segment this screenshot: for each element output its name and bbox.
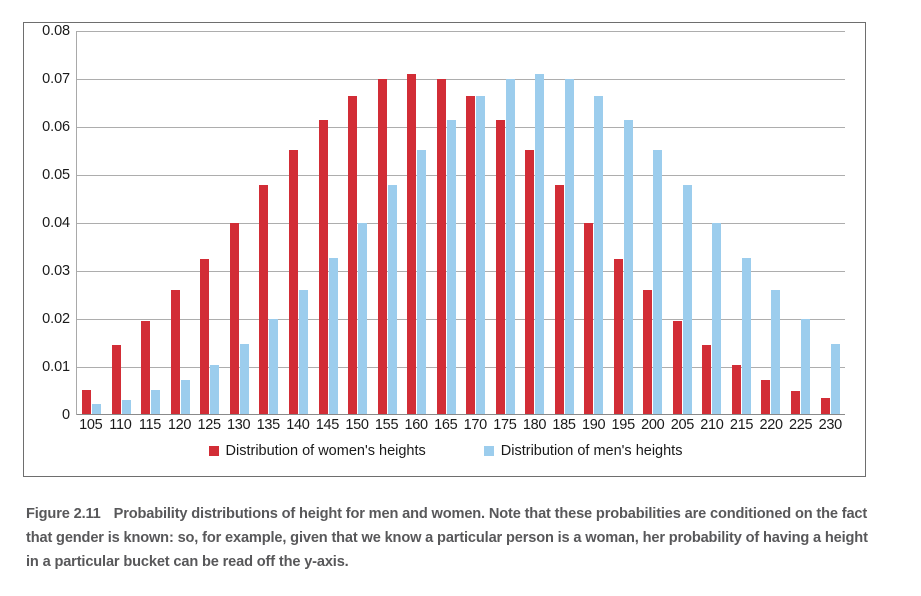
x-tick-label: 135	[253, 417, 283, 441]
x-tick-label: 210	[697, 417, 727, 441]
bar-group	[520, 31, 550, 415]
bar-men	[683, 185, 692, 415]
bar-men	[801, 319, 810, 415]
bar-men	[565, 79, 574, 415]
bar-men	[476, 96, 485, 415]
legend-label: Distribution of women's heights	[226, 443, 426, 459]
x-tick-label: 200	[638, 417, 668, 441]
plot-area	[76, 31, 845, 415]
x-tick-label: 110	[106, 417, 136, 441]
y-tick-label: 0.01	[42, 359, 70, 375]
bar-group	[461, 31, 491, 415]
bar-men	[742, 258, 751, 415]
y-tick-label: 0.04	[42, 215, 70, 231]
x-tick-label: 150	[342, 417, 372, 441]
bar-group	[195, 31, 225, 415]
bar-group	[727, 31, 757, 415]
y-tick-label: 0	[62, 407, 70, 423]
bar-men	[388, 185, 397, 415]
bar-men	[240, 344, 249, 415]
bar-women	[702, 345, 711, 415]
bar-group	[668, 31, 698, 415]
bar-women	[437, 79, 446, 415]
bar-group	[107, 31, 137, 415]
bar-women	[614, 259, 623, 415]
x-tick-label: 130	[224, 417, 254, 441]
bar-men	[535, 74, 544, 415]
bar-group	[225, 31, 255, 415]
bar-men	[269, 319, 278, 415]
y-tick-label: 0.05	[42, 167, 70, 183]
bar-group	[815, 31, 845, 415]
bar-women	[319, 120, 328, 415]
x-tick-label: 105	[76, 417, 106, 441]
bar-men	[712, 223, 721, 415]
y-tick-label: 0.03	[42, 263, 70, 279]
x-tick-label: 155	[372, 417, 402, 441]
bar-group	[313, 31, 343, 415]
bar-women	[112, 345, 121, 415]
bar-men	[151, 390, 160, 415]
bar-group	[343, 31, 373, 415]
y-tick-label: 0.08	[42, 23, 70, 39]
bar-women	[643, 290, 652, 415]
bar-women	[673, 321, 682, 415]
x-tick-label: 220	[756, 417, 786, 441]
x-tick-label: 140	[283, 417, 313, 441]
bar-men	[358, 223, 367, 415]
bar-women	[348, 96, 357, 415]
bar-women	[407, 74, 416, 415]
bar-men	[417, 150, 426, 415]
x-tick-label: 125	[194, 417, 224, 441]
bar-group	[697, 31, 727, 415]
x-tick-label: 185	[549, 417, 579, 441]
bar-group	[77, 31, 107, 415]
bar-women	[259, 185, 268, 415]
bar-women	[555, 185, 564, 415]
bar-women	[496, 120, 505, 415]
x-tick-label: 225	[786, 417, 816, 441]
bar-group	[490, 31, 520, 415]
y-axis: 0.080.070.060.050.040.030.020.010	[24, 23, 76, 423]
figure-root: 0.080.070.060.050.040.030.020.010 105110…	[0, 0, 921, 596]
x-tick-label: 195	[608, 417, 638, 441]
bar-men	[181, 380, 190, 415]
bar-women	[466, 96, 475, 415]
bar-men	[506, 79, 515, 415]
bar-women	[732, 365, 741, 415]
bar-group	[756, 31, 786, 415]
bar-men	[831, 344, 840, 415]
x-tick-label: 190	[579, 417, 609, 441]
bar-men	[653, 150, 662, 415]
bar-group	[372, 31, 402, 415]
bar-men	[299, 290, 308, 415]
x-tick-label: 215	[727, 417, 757, 441]
bar-women	[525, 150, 534, 415]
x-tick-label: 145	[313, 417, 343, 441]
bar-women	[821, 398, 830, 415]
bar-group	[550, 31, 580, 415]
x-tick-label: 180	[520, 417, 550, 441]
bar-group	[579, 31, 609, 415]
bar-women	[200, 259, 209, 415]
plot-wrapper: 0.080.070.060.050.040.030.020.010 105110…	[24, 23, 867, 423]
bar-group	[609, 31, 639, 415]
legend-label: Distribution of men's heights	[501, 443, 683, 459]
bar-group	[402, 31, 432, 415]
bar-women	[82, 390, 91, 415]
bar-women	[584, 223, 593, 415]
bar-group	[136, 31, 166, 415]
bar-men	[447, 120, 456, 415]
bar-group	[786, 31, 816, 415]
chart-legend: Distribution of women's heightsDistribut…	[24, 443, 867, 459]
x-tick-label: 165	[431, 417, 461, 441]
x-tick-label: 120	[165, 417, 195, 441]
x-tick-label: 115	[135, 417, 165, 441]
bar-group	[166, 31, 196, 415]
figure-number: Figure 2.11	[26, 506, 101, 522]
bar-group	[284, 31, 314, 415]
x-tick-label: 230	[815, 417, 845, 441]
y-tick-label: 0.06	[42, 119, 70, 135]
legend-swatch-men	[484, 446, 494, 456]
bar-women	[141, 321, 150, 415]
bar-women	[791, 391, 800, 415]
bar-men	[122, 400, 131, 415]
legend-swatch-women	[209, 446, 219, 456]
bar-group	[431, 31, 461, 415]
chart-frame: 0.080.070.060.050.040.030.020.010 105110…	[23, 22, 866, 477]
x-tick-label: 205	[668, 417, 698, 441]
bar-women	[171, 290, 180, 415]
y-tick-label: 0.07	[42, 71, 70, 87]
bar-group	[638, 31, 668, 415]
x-axis: 1051101151201251301351401451501551601651…	[76, 417, 845, 441]
legend-entry: Distribution of men's heights	[484, 443, 683, 459]
bar-men	[771, 290, 780, 415]
x-tick-label: 160	[401, 417, 431, 441]
legend-entry: Distribution of women's heights	[209, 443, 426, 459]
figure-caption: Figure 2.11Probability distributions of …	[26, 502, 882, 574]
figure-caption-text: Probability distributions of height for …	[26, 506, 868, 570]
bar-men	[624, 120, 633, 415]
bar-women	[230, 223, 239, 415]
bar-group	[254, 31, 284, 415]
bar-men	[210, 365, 219, 415]
bar-men	[329, 258, 338, 415]
bars-layer	[77, 31, 845, 415]
bar-women	[289, 150, 298, 415]
bar-women	[378, 79, 387, 415]
x-axis-line	[77, 414, 845, 415]
bar-women	[761, 380, 770, 415]
x-tick-label: 175	[490, 417, 520, 441]
bar-men	[594, 96, 603, 415]
x-tick-label: 170	[461, 417, 491, 441]
y-tick-label: 0.02	[42, 311, 70, 327]
